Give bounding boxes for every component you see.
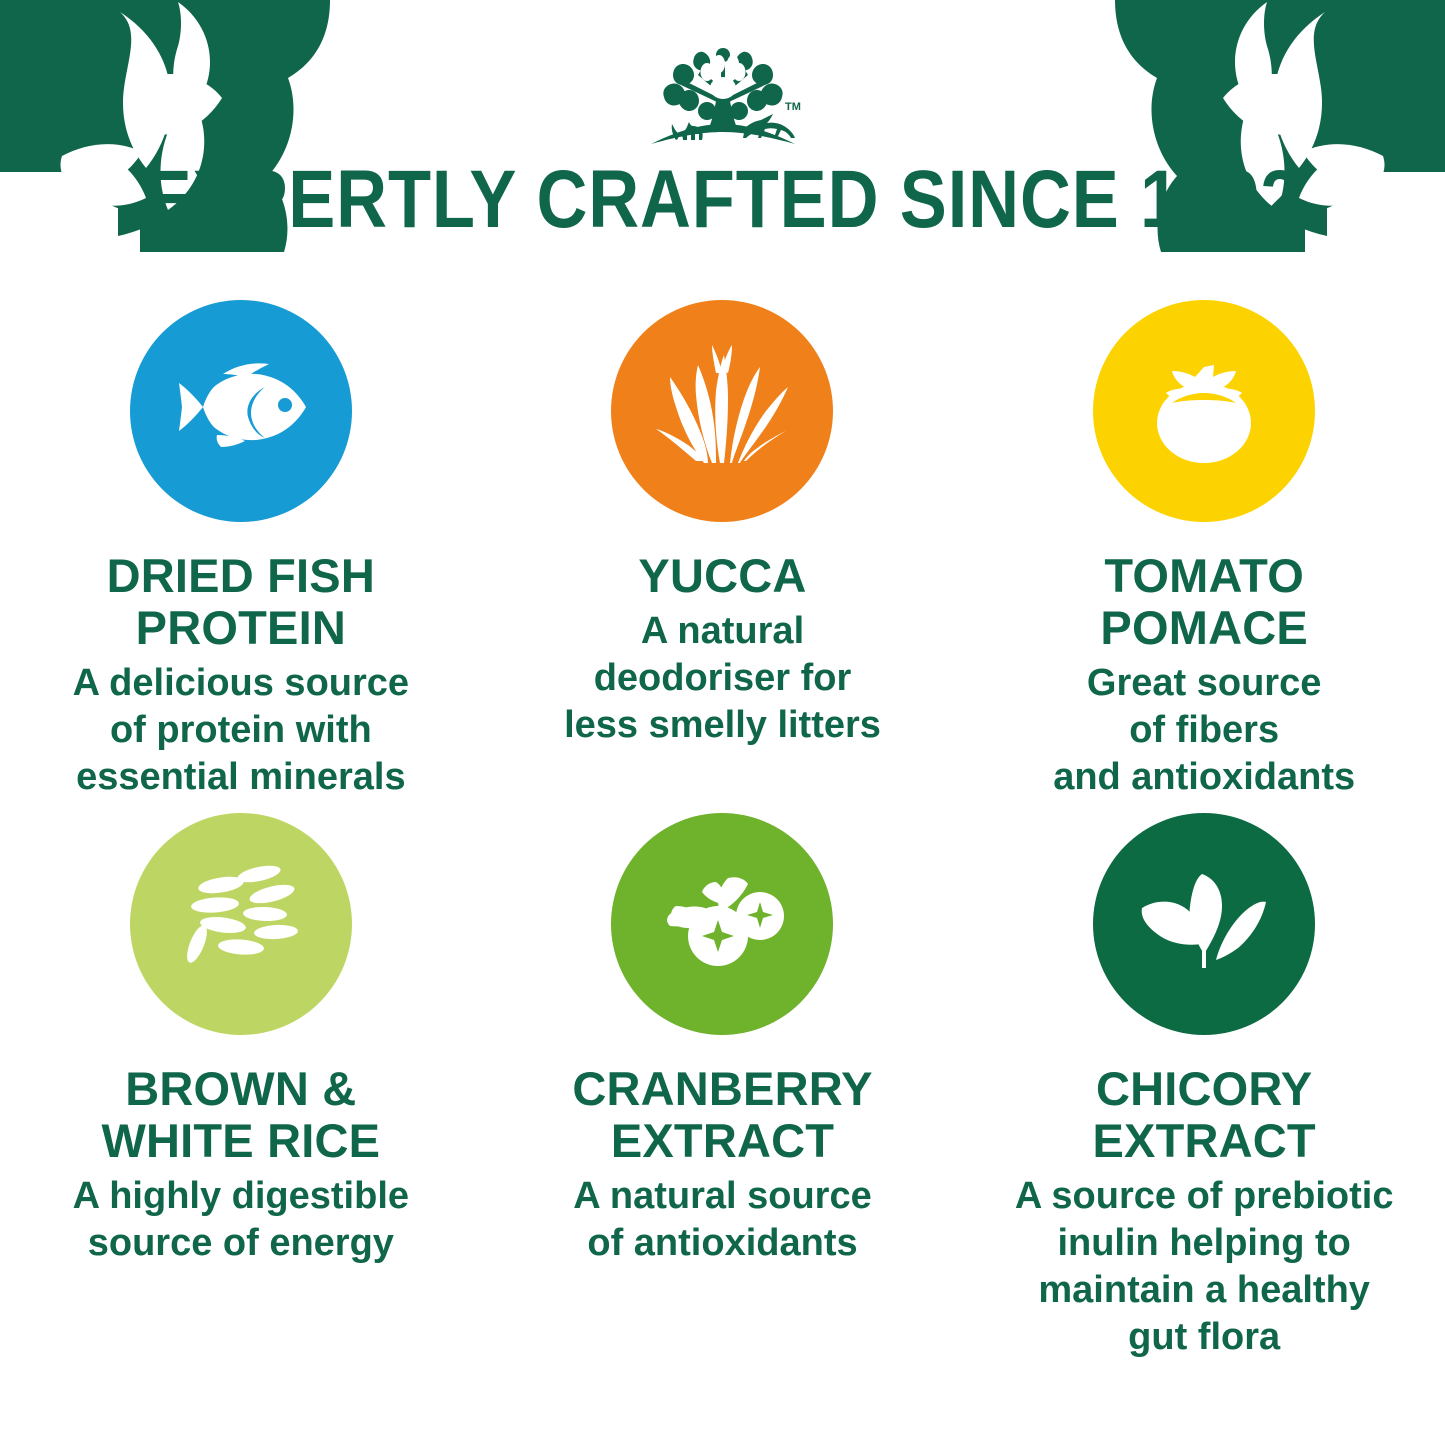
trademark-symbol: TM: [785, 101, 801, 113]
ingredient-card-tomato-pomace: TOMATO POMACE Great source of fibers and…: [963, 300, 1445, 801]
yucca-plant-icon: [611, 300, 833, 522]
ingredient-description: A natural deodoriser for less smelly lit…: [564, 608, 881, 749]
ingredient-description: A highly digestible source of energy: [73, 1173, 409, 1267]
page-headline: EXPERTLY CRAFTED SINCE 1992: [101, 158, 1344, 242]
ingredient-description: A natural source of antioxidants: [573, 1173, 871, 1267]
tomato-icon: [1093, 300, 1315, 522]
ingredient-title: CRANBERRY EXTRACT: [572, 1063, 872, 1167]
ingredient-description: A source of prebiotic inulin helping to …: [1015, 1173, 1394, 1361]
ingredient-title: TOMATO POMACE: [1100, 550, 1308, 654]
ingredient-title: BROWN & WHITE RICE: [101, 1063, 380, 1167]
ingredient-card-dried-fish-protein: DRIED FISH PROTEIN A delicious source of…: [0, 300, 482, 801]
ingredient-card-chicory-extract: CHICORY EXTRACT A source of prebiotic in…: [963, 813, 1445, 1361]
cranberry-icon: [611, 813, 833, 1035]
ingredient-card-yucca: YUCCA A natural deodoriser for less smel…: [482, 300, 964, 801]
rice-grains-icon: [130, 813, 352, 1035]
ingredient-grid: DRIED FISH PROTEIN A delicious source of…: [0, 300, 1445, 1361]
fish-icon: [130, 300, 352, 522]
ingredient-card-cranberry-extract: CRANBERRY EXTRACT A natural source of an…: [482, 813, 964, 1361]
chicory-leaves-icon: [1093, 813, 1315, 1035]
ingredient-description: A delicious source of protein with essen…: [73, 660, 409, 801]
ingredient-title: CHICORY EXTRACT: [1092, 1063, 1315, 1167]
ingredient-description: Great source of fibers and antioxidants: [1053, 660, 1355, 801]
tree-with-paw-print-cat-and-dog-logo: TM: [633, 44, 813, 154]
ingredient-title: YUCCA: [638, 550, 806, 602]
header-band: TM EXPERTLY CRAFTED SINCE 1992: [0, 0, 1445, 262]
ingredient-title: DRIED FISH PROTEIN: [107, 550, 375, 654]
ingredient-card-brown-white-rice: BROWN & WHITE RICE A highly digestible s…: [0, 813, 482, 1361]
